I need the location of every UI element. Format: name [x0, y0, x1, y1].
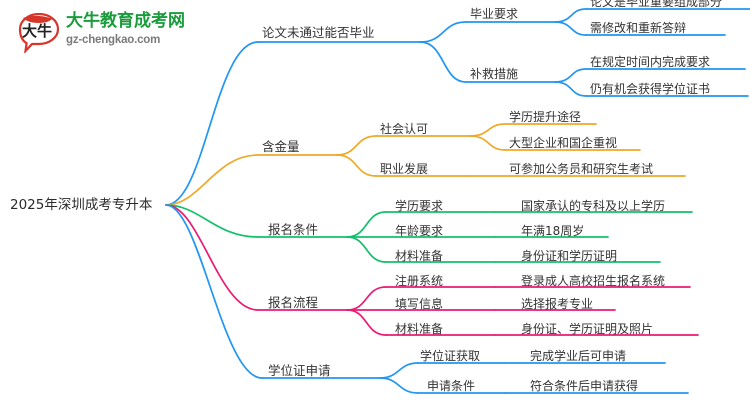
wire-branch5-to-c1 [380, 363, 418, 378]
subnode-cailiaozhunbei-tiaojian[interactable]: 材料准备 [395, 250, 443, 262]
subnode-biyeyaoqiu[interactable]: 毕业要求 [470, 8, 518, 20]
branch-node-baomingtiaojian[interactable]: 报名条件 [268, 224, 318, 237]
leaf-xuanze-zhuanye[interactable]: 选择报考专业 [521, 298, 593, 310]
wire-branch1-to-c2 [420, 42, 466, 82]
subnode-tianxiexinxi[interactable]: 填写信息 [395, 298, 443, 310]
branch-node-lunwen[interactable]: 论文未通过能否毕业 [262, 27, 375, 40]
leaf-qiye-zhongshi[interactable]: 大型企业和国企重视 [509, 137, 617, 149]
subnode-shehuirenke[interactable]: 社会认可 [380, 123, 428, 135]
leaf-guojia-chengren[interactable]: 国家承认的专科及以上学历 [521, 200, 665, 212]
subnode-bujiucuoshi[interactable]: 补救措施 [470, 68, 518, 80]
wire-branch1-to-c1 [420, 22, 466, 42]
wire-branch4-to-c1 [347, 287, 386, 310]
leaf-shenfenzheng-xueli[interactable]: 身份证和学历证明 [521, 250, 617, 262]
wire-c1-to-leaf2 [555, 22, 586, 35]
subnode-shenqingtiaojian[interactable]: 申请条件 [427, 380, 475, 392]
leaf-gongwuyuan-kaoshi[interactable]: 可参加公务员和研究生考试 [509, 163, 653, 175]
wire-branch4-to-c3 [347, 310, 386, 335]
leaf-wancheng-xueye[interactable]: 完成学业后可申请 [530, 350, 626, 362]
branch-node-xueweizhengshenqing[interactable]: 学位证申请 [268, 365, 331, 378]
wire-c1-to-leaf1 [555, 9, 586, 22]
leaf-shenfenzheng-zhaopian[interactable]: 身份证、学历证明及照片 [521, 323, 653, 335]
leaf-xiugai-dabian[interactable]: 需修改和重新答辩 [590, 22, 686, 34]
branch-node-baomingliucheng[interactable]: 报名流程 [268, 297, 318, 310]
leaf-fuhe-tiaojian[interactable]: 符合条件后申请获得 [530, 380, 638, 392]
wire-branch3-to-c1 [347, 212, 386, 237]
subnode-cailiaozhunbei-liucheng[interactable]: 材料准备 [395, 323, 443, 335]
wire-c2-to-leaf1 [555, 69, 586, 82]
subnode-xueweizhenghuoqu[interactable]: 学位证获取 [420, 350, 480, 362]
wire-root-to-branch5 [166, 205, 262, 378]
leaf-lunwen-zucheng[interactable]: 论文是毕业重要组成部分 [590, 0, 722, 8]
wire-b2c1-to-leaf1 [470, 124, 505, 136]
leaf-denglu-xitong[interactable]: 登录成人高校招生报名系统 [521, 275, 665, 287]
wire-branch2-to-c2 [337, 155, 376, 176]
subnode-xueliyaoqiu[interactable]: 学历要求 [395, 200, 443, 212]
wire-branch5-to-c2 [380, 378, 418, 393]
subnode-zhucexitong[interactable]: 注册系统 [395, 275, 443, 287]
leaf-guiding-shijian[interactable]: 在规定时间内完成要求 [590, 56, 710, 68]
wire-branch3-to-c3 [347, 237, 386, 262]
leaf-xueli-tisheng[interactable]: 学历提升途径 [509, 111, 581, 123]
subnode-zhiyefazhan[interactable]: 职业发展 [380, 163, 428, 175]
wire-root-to-branch3 [166, 205, 258, 237]
subnode-nianlingyaoqiu[interactable]: 年龄要求 [395, 225, 443, 237]
leaf-xuewei-zhengshu[interactable]: 仍有机会获得学位证书 [590, 83, 710, 95]
wire-b2c1-to-leaf2 [470, 136, 505, 150]
leaf-nianman-18[interactable]: 年满18周岁 [521, 225, 584, 237]
mindmap-page: 大牛 大牛教育成考网 gz-chengkao.com [0, 0, 750, 410]
branch-node-hanjinliang[interactable]: 含金量 [262, 141, 300, 154]
wire-branch2-to-c1 [337, 136, 376, 155]
wire-root-to-branch1 [166, 42, 258, 205]
wire-c2-to-leaf2 [555, 82, 586, 96]
mindmap-root-node[interactable]: 2025年深圳成考专升本 [10, 199, 152, 213]
